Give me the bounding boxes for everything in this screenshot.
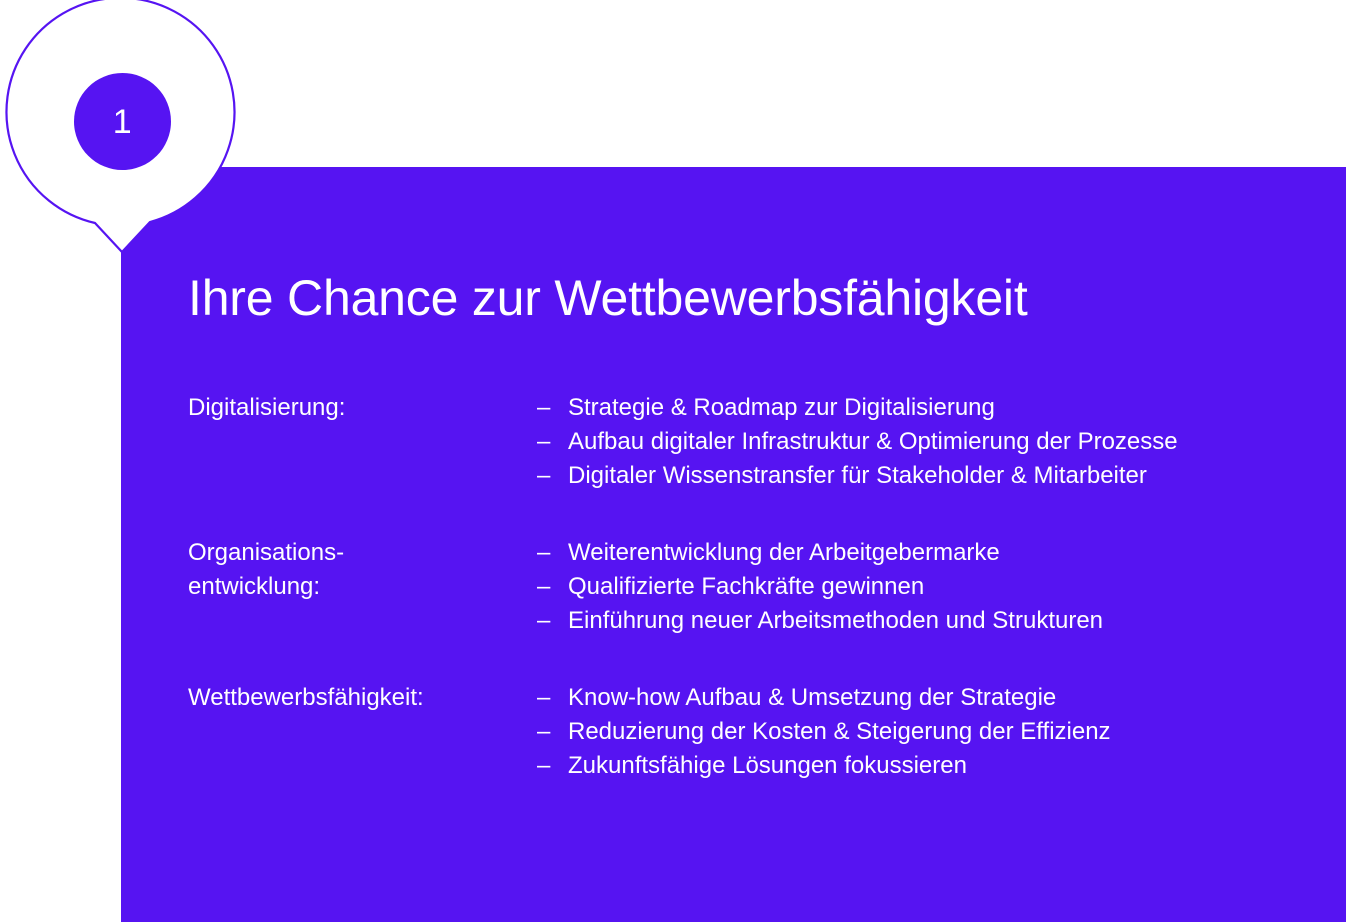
badge-number: 1 — [113, 105, 132, 139]
list-item-text: Reduzierung der Kosten & Steigerung der … — [568, 715, 1268, 749]
slide-canvas: Ihre Chance zur Wettbewerbsfähigkeit Dig… — [0, 0, 1358, 922]
list-item: – Einführung neuer Arbeitsmethoden und S… — [537, 604, 1306, 638]
list-item: – Aufbau digitaler Infrastruktur & Optim… — [537, 425, 1306, 459]
list-item-text: Weiterentwicklung der Arbeitgebermarke — [568, 536, 1268, 570]
bullet-list: – Strategie & Roadmap zur Digitalisierun… — [537, 391, 1306, 493]
group-label: Wettbewerbsfähigkeit: — [188, 681, 537, 715]
list-item-text: Qualifizierte Fachkräfte gewinnen — [568, 570, 1268, 604]
dash-icon: – — [537, 391, 568, 425]
group-label: Organisations- entwicklung: — [188, 536, 537, 604]
badge-circle: 1 — [74, 73, 171, 170]
list-item-text: Digitaler Wissenstransfer für Stakeholde… — [568, 459, 1268, 493]
list-item-text: Einführung neuer Arbeitsmethoden und Str… — [568, 604, 1268, 638]
group-wettbewerbsfaehigkeit: Wettbewerbsfähigkeit: – Know-how Aufbau … — [188, 681, 1306, 783]
list-item-text: Strategie & Roadmap zur Digitalisierung — [568, 391, 1268, 425]
dash-icon: – — [537, 681, 568, 715]
list-item: – Strategie & Roadmap zur Digitalisierun… — [537, 391, 1306, 425]
group-digitalisierung: Digitalisierung: – Strategie & Roadmap z… — [188, 391, 1306, 493]
list-item: – Zukunftsfähige Lösungen fokussieren — [537, 749, 1306, 783]
group-label: Digitalisierung: — [188, 391, 537, 425]
group-organisationsentwicklung: Organisations- entwicklung: – Weiterentw… — [188, 536, 1306, 638]
bullet-list: – Weiterentwicklung der Arbeitgebermarke… — [537, 536, 1306, 638]
dash-icon: – — [537, 570, 568, 604]
step-badge: 1 — [0, 0, 260, 265]
dash-icon: – — [537, 749, 568, 783]
dash-icon: – — [537, 715, 568, 749]
list-item-text: Know-how Aufbau & Umsetzung der Strategi… — [568, 681, 1268, 715]
page-title: Ihre Chance zur Wettbewerbsfähigkeit — [188, 273, 1028, 323]
list-item-text: Aufbau digitaler Infrastruktur & Optimie… — [568, 425, 1268, 459]
bullet-list: – Know-how Aufbau & Umsetzung der Strate… — [537, 681, 1306, 783]
list-item: – Know-how Aufbau & Umsetzung der Strate… — [537, 681, 1306, 715]
list-item: – Qualifizierte Fachkräfte gewinnen — [537, 570, 1306, 604]
content-groups: Digitalisierung: – Strategie & Roadmap z… — [188, 391, 1306, 783]
list-item-text: Zukunftsfähige Lösungen fokussieren — [568, 749, 1268, 783]
content-panel: Ihre Chance zur Wettbewerbsfähigkeit Dig… — [121, 167, 1346, 922]
dash-icon: – — [537, 425, 568, 459]
dash-icon: – — [537, 536, 568, 570]
list-item: – Digitaler Wissenstransfer für Stakehol… — [537, 459, 1306, 493]
dash-icon: – — [537, 459, 568, 493]
list-item: – Reduzierung der Kosten & Steigerung de… — [537, 715, 1306, 749]
list-item: – Weiterentwicklung der Arbeitgebermarke — [537, 536, 1306, 570]
dash-icon: – — [537, 604, 568, 638]
